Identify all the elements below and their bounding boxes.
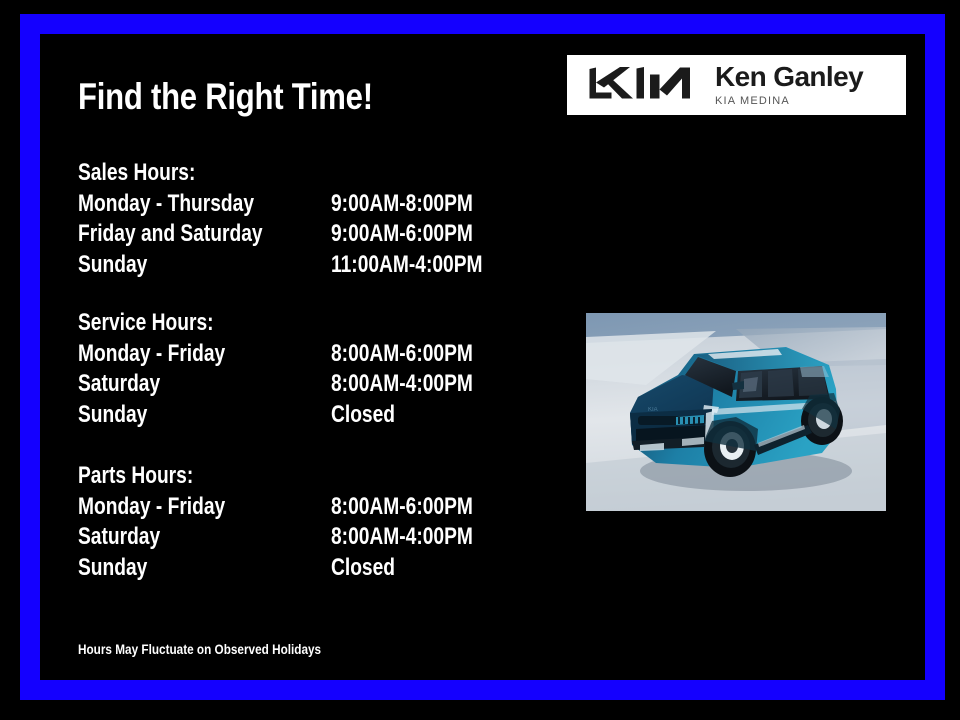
slide-canvas: Find the Right Time! Sales Hours: Monday… [0, 0, 960, 720]
hours-row: Sunday Closed [78, 400, 247, 431]
hours-time-value: Closed [331, 553, 395, 584]
hours-row: Saturday 8:00AM-4:00PM [78, 522, 222, 553]
hours-time-value: Closed [331, 400, 395, 431]
hours-row: Monday - Friday 8:00AM-6:00PM [78, 339, 247, 370]
hours-day-label: Monday - Friday [78, 339, 225, 370]
dealer-logo-plate: Ken Ganley KIA MEDINA [567, 55, 906, 115]
hours-heading-sales: Sales Hours: [78, 158, 195, 189]
hours-row: Sunday Closed [78, 553, 222, 584]
hours-row: Saturday 8:00AM-4:00PM [78, 369, 247, 400]
hours-time-value: 8:00AM-6:00PM [331, 339, 473, 370]
hours-heading-service: Service Hours: [78, 308, 214, 339]
hours-row: Sunday 11:00AM-4:00PM [78, 250, 225, 281]
page-title: Find the Right Time! [78, 76, 373, 118]
dealer-name: Ken Ganley [715, 63, 863, 91]
hours-day-label: Sunday [78, 400, 147, 431]
kia-logo-icon [574, 63, 702, 107]
hours-day-label: Saturday [78, 522, 160, 553]
kia-ev9-suv-photo: KIA [586, 313, 886, 511]
hours-time-value: 8:00AM-4:00PM [331, 522, 473, 553]
svg-text:KIA: KIA [648, 407, 658, 413]
hours-day-label: Monday - Friday [78, 492, 225, 523]
hours-time-value: 9:00AM-6:00PM [331, 219, 473, 250]
hours-day-label: Sunday [78, 250, 147, 281]
dealer-location: KIA MEDINA [715, 95, 863, 108]
hours-heading-parts: Parts Hours: [78, 461, 193, 492]
hours-row: Monday - Thursday 9:00AM-8:00PM [78, 189, 225, 220]
hours-day-label: Sunday [78, 553, 147, 584]
hours-day-label: Friday and Saturday [78, 219, 263, 250]
hours-block-parts: Parts Hours: Monday - Friday 8:00AM-6:00… [78, 461, 222, 583]
hours-time-value: 8:00AM-6:00PM [331, 492, 473, 523]
holiday-disclaimer: Hours May Fluctuate on Observed Holidays [78, 641, 321, 658]
hours-day-label: Saturday [78, 369, 160, 400]
hours-time-value: 11:00AM-4:00PM [331, 250, 483, 281]
hours-day-label: Monday - Thursday [78, 189, 254, 220]
hours-row: Friday and Saturday 9:00AM-6:00PM [78, 219, 225, 250]
hours-row: Monday - Friday 8:00AM-6:00PM [78, 492, 222, 523]
hours-block-sales: Sales Hours: Monday - Thursday 9:00AM-8:… [78, 158, 225, 280]
hours-time-value: 8:00AM-4:00PM [331, 369, 473, 400]
hours-time-value: 9:00AM-8:00PM [331, 189, 473, 220]
hours-block-service: Service Hours: Monday - Friday 8:00AM-6:… [78, 308, 247, 430]
dealer-name-group: Ken Ganley KIA MEDINA [715, 63, 863, 108]
